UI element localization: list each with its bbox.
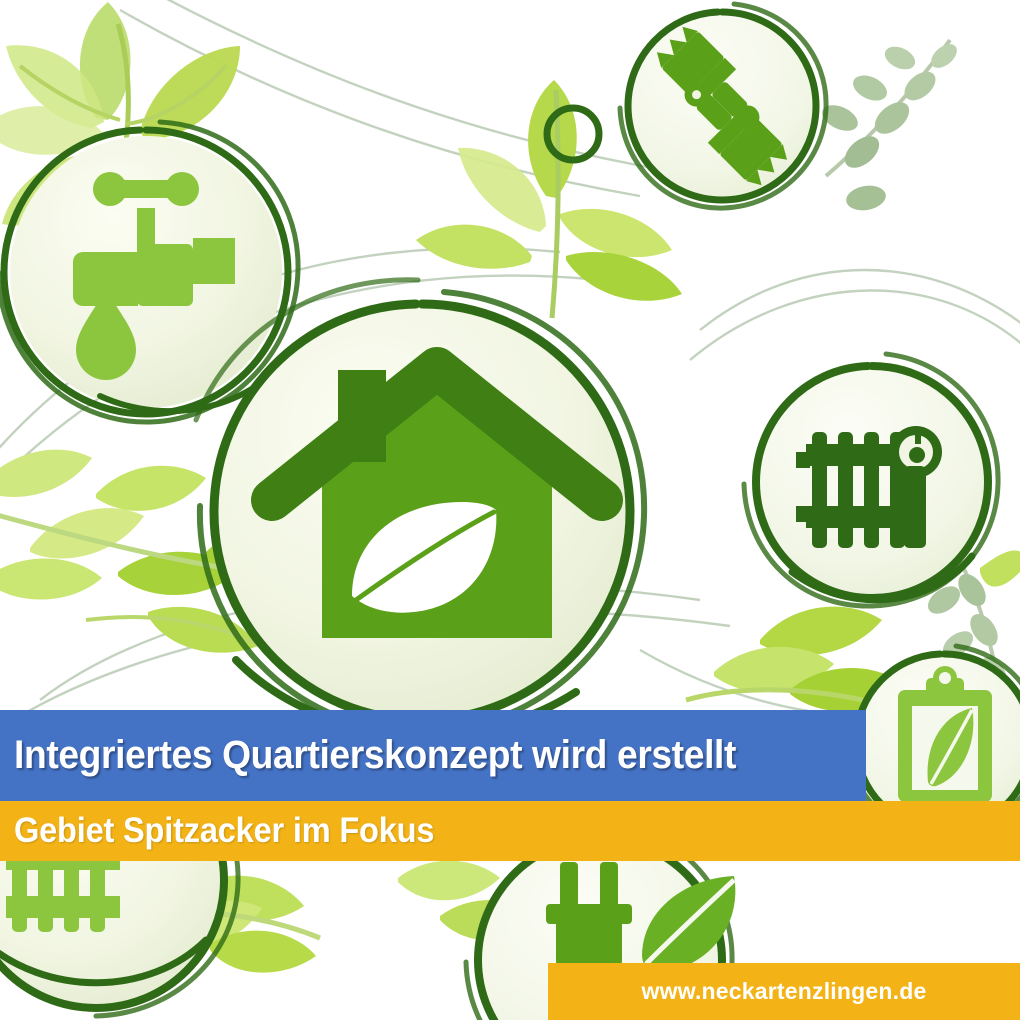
subline-banner: Gebiet Spitzacker im Fokus: [0, 801, 1020, 861]
background-artwork: [0, 0, 1020, 1020]
poster: Integriertes Quartierskonzept wird erste…: [0, 0, 1020, 1020]
website-banner[interactable]: www.neckartenzlingen.de: [548, 963, 1020, 1020]
headline-text: Integriertes Quartierskonzept wird erste…: [14, 733, 736, 778]
subline-text: Gebiet Spitzacker im Fokus: [14, 811, 434, 851]
headline-banner: Integriertes Quartierskonzept wird erste…: [0, 710, 866, 801]
website-url-text: www.neckartenzlingen.de: [642, 978, 927, 1005]
radiator-icon: [796, 426, 942, 548]
